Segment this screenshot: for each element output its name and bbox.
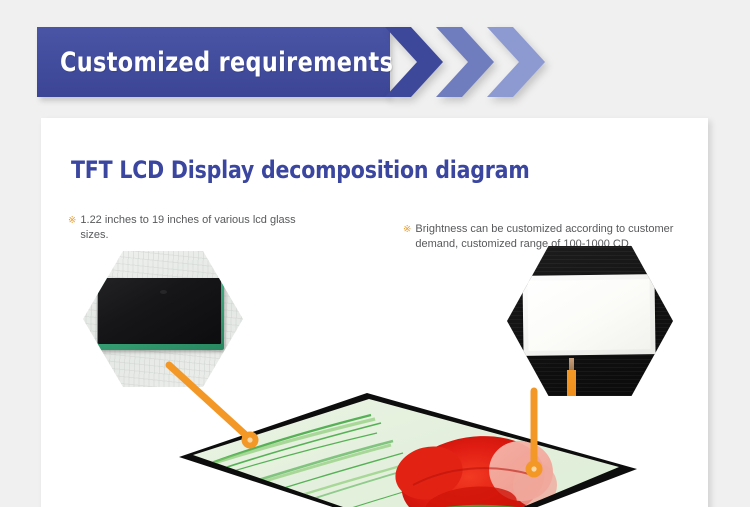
lcd-screen-highlight: [160, 290, 167, 294]
header-banner: Customized requirements: [37, 27, 547, 97]
photo-lcd-glass: [83, 251, 243, 387]
backlight-diffuser: [528, 279, 651, 351]
chevron-arrow-1-icon: [385, 27, 443, 97]
banner-bar: Customized requirements: [37, 27, 390, 97]
chevron-arrow-2-icon: [436, 27, 494, 97]
section-title: TFT LCD Display decomposition diagram: [71, 156, 530, 184]
note-lcd-sizes-text: 1.22 inches to 19 inches of various lcd …: [80, 213, 298, 243]
lcd-screen-surface: [98, 278, 221, 344]
content-card: TFT LCD Display decomposition diagram ※ …: [41, 118, 708, 507]
photo-backlight-unit: [507, 246, 673, 396]
backlight-panel: [522, 274, 655, 356]
chevron-arrow-3-icon: [487, 27, 545, 97]
photo-assembled-display: [141, 393, 671, 507]
note-lcd-sizes: ※ 1.22 inches to 19 inches of various lc…: [68, 213, 298, 243]
reference-mark-icon: ※: [403, 222, 411, 237]
product-detail-page: Customized requirements TFT LCD Display …: [0, 0, 750, 507]
lcd-glass-panel: [97, 278, 224, 350]
banner-title: Customized requirements: [37, 47, 393, 78]
reference-mark-icon: ※: [68, 213, 76, 228]
